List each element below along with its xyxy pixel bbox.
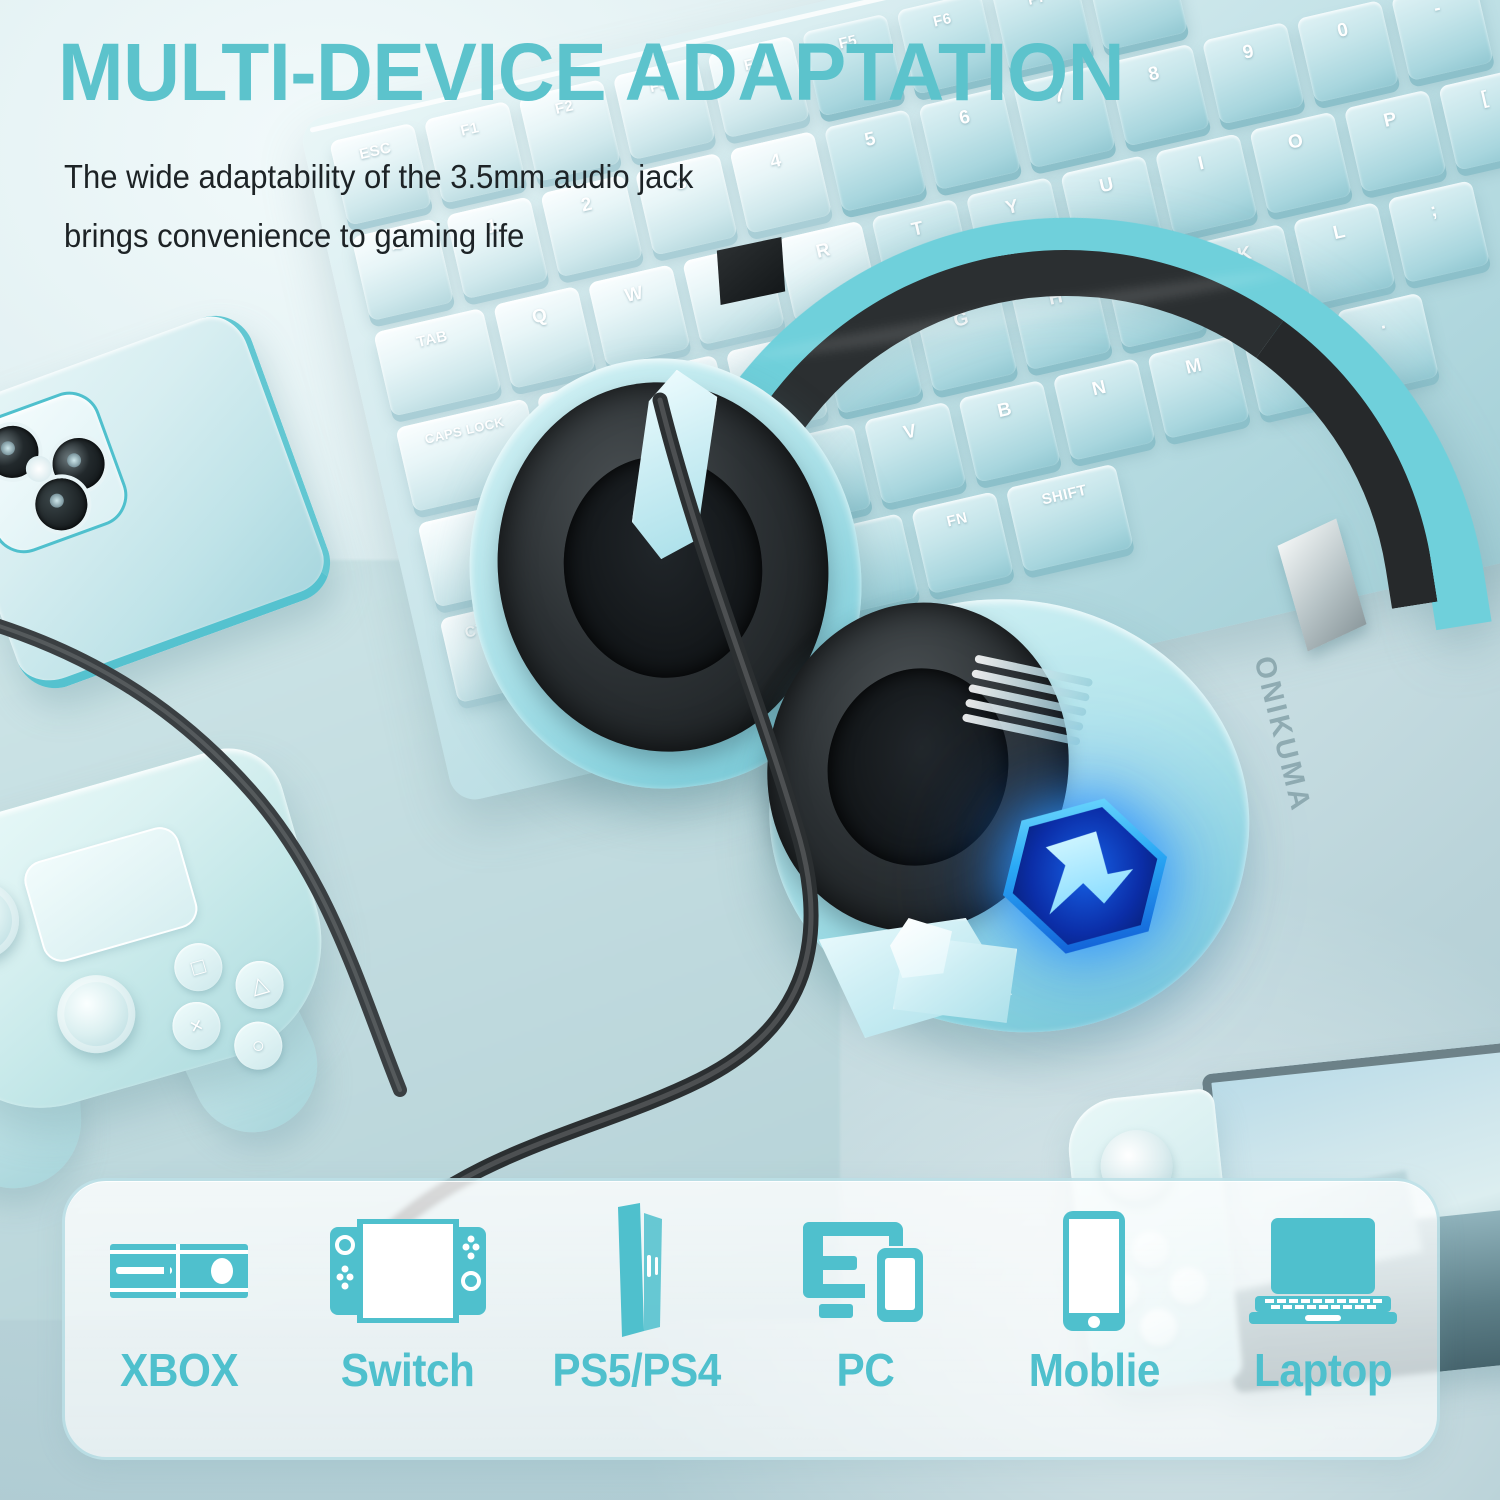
camera-bump — [0, 383, 136, 562]
brand-logo-text: ONIKUMA — [1246, 653, 1317, 816]
key-minus: - — [1391, 0, 1494, 81]
key-p: P — [1344, 90, 1447, 193]
laptop-icon — [1249, 1211, 1397, 1331]
device-label-playstation: PS5/PS4 — [552, 1343, 721, 1397]
nintendo-switch-icon — [330, 1211, 486, 1331]
key-0: 0 — [1296, 0, 1399, 103]
device-item-laptop[interactable]: Laptop — [1208, 1181, 1437, 1457]
subtitle-line-2: brings convenience to gaming life — [64, 207, 693, 266]
device-label-laptop: Laptop — [1254, 1343, 1392, 1397]
device-item-mobile[interactable]: Moblie — [980, 1181, 1209, 1457]
playstation-console-icon — [600, 1211, 674, 1331]
button-cross: × — [167, 996, 226, 1055]
device-item-playstation[interactable]: PS5/PS4 — [522, 1181, 751, 1457]
controller-stick-left — [0, 872, 28, 968]
key-9: 9 — [1202, 22, 1305, 125]
key-o: O — [1249, 111, 1352, 214]
page-subtitle: The wide adaptability of the 3.5mm audio… — [64, 148, 693, 265]
key-i: I — [1155, 133, 1258, 236]
device-item-switch[interactable]: Switch — [294, 1181, 523, 1457]
key-5: 5 — [824, 109, 927, 212]
device-item-pc[interactable]: PC — [751, 1181, 980, 1457]
compatibility-panel: XBOX Switch — [62, 1178, 1440, 1460]
smartphone-icon — [1063, 1211, 1125, 1331]
headband-top-block — [717, 237, 785, 305]
device-label-pc: PC — [836, 1343, 894, 1397]
device-label-mobile: Moblie — [1028, 1343, 1159, 1397]
key-bracket-left: [ — [1438, 68, 1500, 171]
device-label-xbox: XBOX — [120, 1343, 238, 1397]
device-label-switch: Switch — [341, 1343, 475, 1397]
page-title: MULTI-DEVICE ADAPTATION — [58, 32, 1124, 114]
button-triangle: △ — [230, 955, 289, 1014]
key-4: 4 — [729, 131, 832, 234]
button-square: □ — [169, 937, 228, 996]
pc-monitor-phone-icon — [803, 1211, 927, 1331]
device-item-xbox[interactable]: XBOX — [65, 1181, 294, 1457]
xbox-console-icon — [108, 1211, 250, 1331]
subtitle-line-1: The wide adaptability of the 3.5mm audio… — [64, 148, 693, 207]
controller-stick-right — [48, 966, 144, 1062]
controller-touchpad — [20, 822, 202, 966]
gaming-headset: ONIKUMA — [370, 230, 1420, 1060]
